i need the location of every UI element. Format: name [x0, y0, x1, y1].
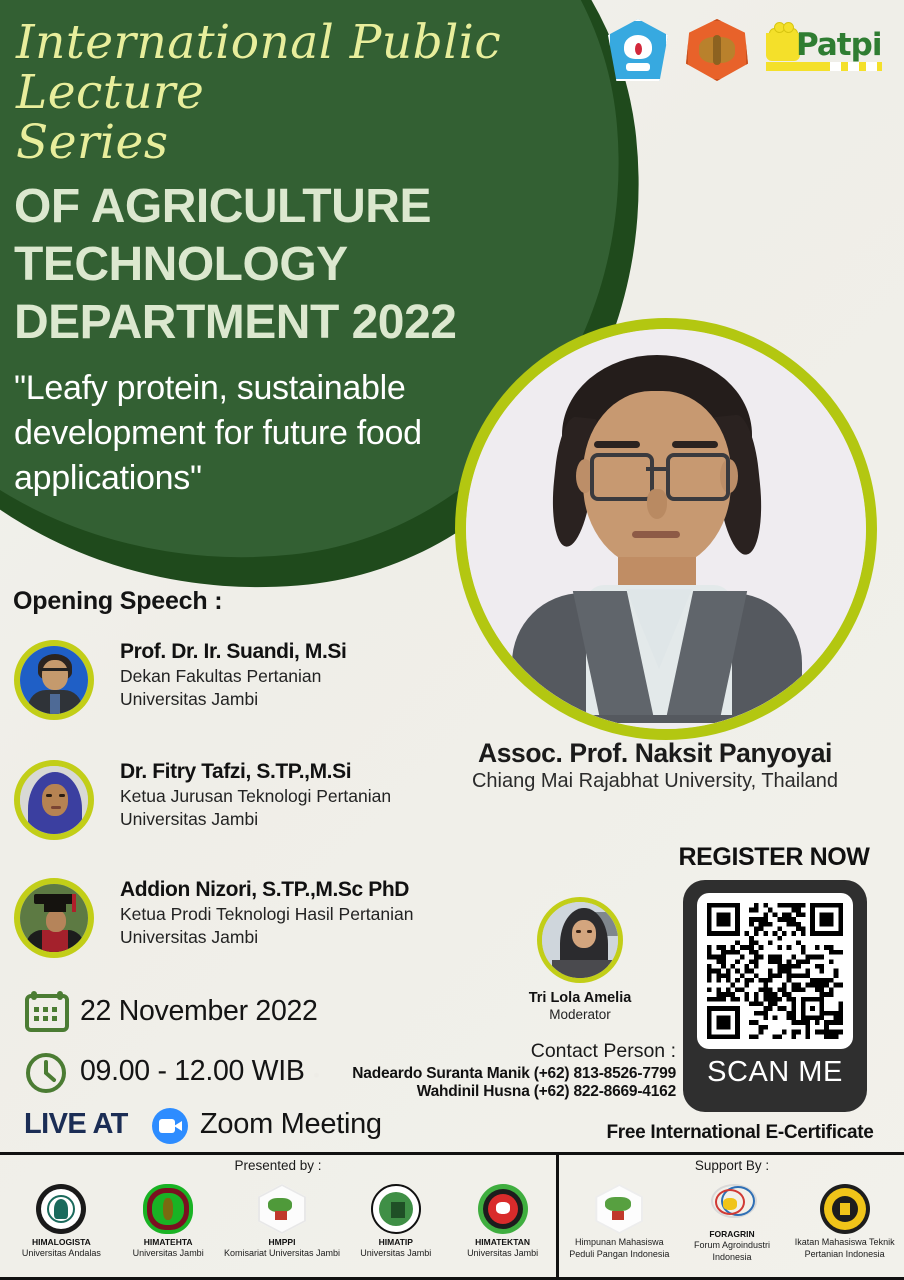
zoom-camera-icon — [152, 1108, 188, 1144]
footer-logo-name: HIMATEHTA — [116, 1237, 220, 1248]
qr-code-image[interactable] — [697, 893, 853, 1049]
event-platform: Zoom Meeting — [200, 1108, 382, 1141]
footer-logo-item: HIMALOGISTA Universitas Andalas — [9, 1184, 113, 1260]
contact-person-2: Wahdinil Husna (+62) 822-8669-4162 — [300, 1083, 676, 1101]
event-time: 09.00 - 12.00 WIB — [80, 1055, 305, 1088]
footer-logo-name: FORAGRIN — [678, 1229, 786, 1240]
certificate-note: Free International E-Certificate — [590, 1122, 890, 1144]
moderator-role: Moderator — [497, 1007, 663, 1022]
footer-logo-item: HIMATEKTAN Universitas Jambi — [451, 1184, 555, 1260]
title-main-line2: TECHNOLOGY — [14, 236, 620, 294]
footer-logo-sub: Universitas Jambi — [344, 1248, 448, 1260]
opening-speaker-avatar-2 — [14, 760, 94, 840]
opening-speaker-role1-1: Dekan Fakultas Pertanian — [120, 665, 346, 688]
keynote-speaker-affiliation: Chiang Mai Rajabhat University, Thailand — [440, 770, 870, 793]
himatip-logo-icon — [371, 1184, 421, 1234]
title-script-line1: International Public Lecture — [16, 18, 620, 118]
footer-logo-item: HIMATIP Universitas Jambi — [344, 1184, 448, 1260]
opening-speaker-row-3: Addion Nizori, S.TP.,M.Sc PhD Ketua Prod… — [14, 878, 484, 970]
footer-logo-name: HIMATEKTAN — [451, 1237, 555, 1248]
opening-speaker-role2-2: Universitas Jambi — [120, 808, 391, 831]
opening-speaker-name-2: Dr. Fitry Tafzi, S.TP.,M.Si — [120, 758, 391, 785]
title-main: OF AGRICULTURE TECHNOLOGY DEPARTMENT 202… — [0, 168, 620, 352]
footer-logo-item: Ikatan Mahasiswa Teknik Pertanian Indone… — [789, 1184, 901, 1260]
presented-by-title: Presented by : — [0, 1158, 556, 1173]
event-date: 22 November 2022 — [80, 995, 318, 1028]
footer-logo-sub: Komisariat Universitas Jambi — [223, 1248, 341, 1260]
opening-speaker-row-1: Prof. Dr. Ir. Suandi, M.Si Dekan Fakulta… — [14, 640, 484, 732]
title-main-line3: DEPARTMENT 2022 — [14, 294, 620, 352]
footer-logo-name: HIMALOGISTA — [9, 1237, 113, 1248]
scan-me-label: SCAN ME — [683, 1056, 867, 1089]
opening-speech-heading: Opening Speech : — [13, 587, 222, 616]
himatektan-logo-icon — [478, 1184, 528, 1234]
opening-speaker-avatar-3 — [14, 878, 94, 958]
support-by-row: Himpunan Mahasiswa Peduli Pangan Indones… — [562, 1184, 902, 1263]
footer-divider — [556, 1155, 559, 1280]
footer-logo-sub: Himpunan Mahasiswa Peduli Pangan Indones… — [563, 1237, 675, 1260]
qr-code-pattern — [707, 903, 843, 1039]
lecture-quote: "Leafy protein, sustainable development … — [0, 352, 484, 501]
footer-logo-sub: Ikatan Mahasiswa Teknik Pertanian Indone… — [789, 1237, 901, 1260]
presented-by-row: HIMALOGISTA Universitas Andalas HIMATEHT… — [8, 1184, 556, 1260]
footer-logo-sub: Universitas Andalas — [9, 1248, 113, 1260]
moderator-name: Tri Lola Amelia — [497, 990, 663, 1006]
qr-code-card[interactable]: SCAN ME — [683, 880, 867, 1112]
footer-logo-name: HIMATIP — [344, 1237, 448, 1248]
title-main-line1: OF AGRICULTURE — [14, 178, 620, 236]
patpi-logo-icon: Patpi — [766, 25, 882, 75]
footer-logo-item: Himpunan Mahasiswa Peduli Pangan Indones… — [563, 1184, 675, 1260]
keynote-portrait — [466, 329, 866, 729]
poster-canvas: Patpi International Public Lecture Serie… — [0, 0, 904, 1280]
clock-icon — [25, 1052, 67, 1094]
support-by-title: Support By : — [560, 1158, 904, 1173]
hmppi-logo-icon — [258, 1184, 306, 1234]
top-logo-row: Patpi — [608, 18, 894, 82]
footer-logo-item: HIMATEHTA Universitas Jambi — [116, 1184, 220, 1260]
opening-speaker-name-3: Addion Nizori, S.TP.,M.Sc PhD — [120, 876, 413, 903]
footer-logo-item: HMPPI Komisariat Universitas Jambi — [223, 1184, 341, 1260]
title-script: International Public Lecture Series — [0, 0, 620, 168]
opening-speaker-role2-3: Universitas Jambi — [120, 926, 413, 949]
kemendikbud-logo-icon — [608, 19, 668, 81]
hmppi-support-logo-icon — [595, 1184, 643, 1234]
footer-logo-item: FORAGRIN Forum Agroindustri Indonesia — [678, 1184, 786, 1263]
contact-title: Contact Person : — [300, 1040, 676, 1063]
himalogista-logo-icon — [36, 1184, 86, 1234]
footer-logo-name: HMPPI — [223, 1237, 341, 1248]
footer-logo-sub: Universitas Jambi — [451, 1248, 555, 1260]
opening-speaker-row-2: Dr. Fitry Tafzi, S.TP.,M.Si Ketua Jurusa… — [14, 760, 484, 852]
foragrin-logo-icon — [703, 1184, 761, 1226]
contact-person-1: Nadeardo Suranta Manik (+62) 813-8526-77… — [300, 1065, 676, 1083]
imatetani-logo-icon — [820, 1184, 870, 1234]
footer-logo-sub: Universitas Jambi — [116, 1248, 220, 1260]
register-now-heading: REGISTER NOW — [664, 843, 884, 872]
himatehta-logo-icon — [143, 1184, 193, 1234]
universitas-jambi-logo-icon — [686, 19, 748, 81]
footer-logo-sub: Forum Agroindustri Indonesia — [678, 1240, 786, 1263]
opening-speaker-avatar-1 — [14, 640, 94, 720]
calendar-icon — [25, 990, 69, 1032]
opening-speaker-role1-3: Ketua Prodi Teknologi Hasil Pertanian — [120, 903, 413, 926]
keynote-speaker-name: Assoc. Prof. Naksit Panyoyai — [455, 738, 855, 769]
moderator-photo — [537, 897, 623, 983]
live-at-label: LIVE AT — [24, 1108, 128, 1141]
title-script-line2: Series — [16, 118, 620, 168]
keynote-speaker-photo — [455, 318, 877, 740]
opening-speaker-role2-1: Universitas Jambi — [120, 688, 346, 711]
opening-speaker-name-1: Prof. Dr. Ir. Suandi, M.Si — [120, 638, 346, 665]
opening-speaker-role1-2: Ketua Jurusan Teknologi Pertanian — [120, 785, 391, 808]
